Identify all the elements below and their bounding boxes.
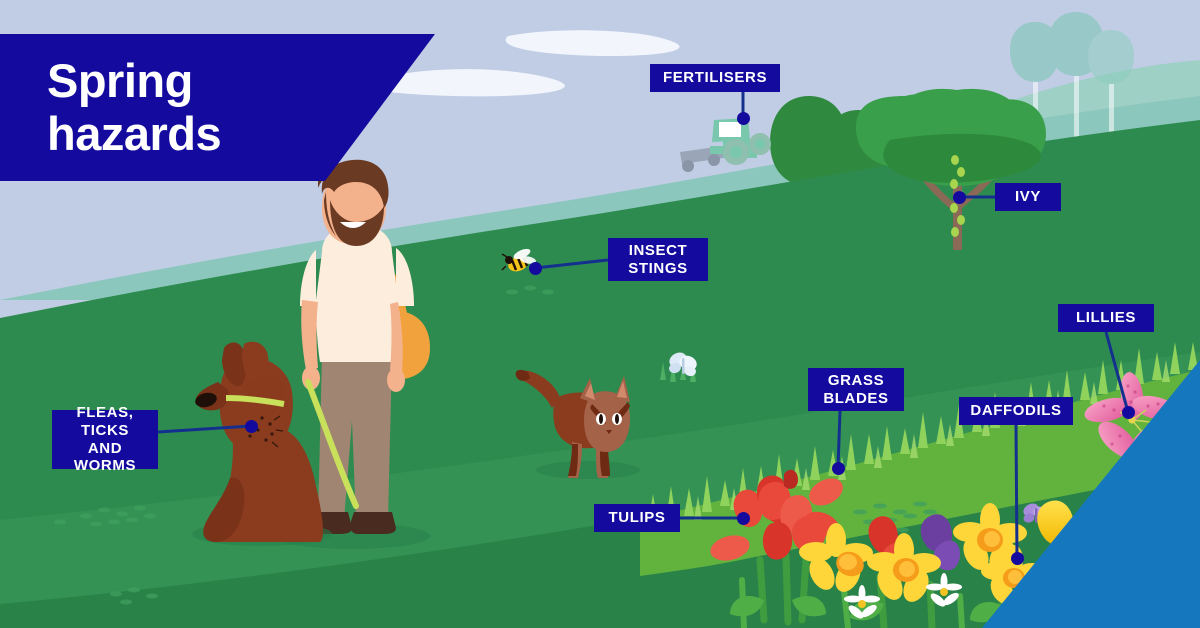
connector-insect-stings: [535, 260, 608, 268]
label-fertilisers[interactable]: FERTILISERS: [650, 64, 780, 92]
hotspot-ivy[interactable]: [953, 191, 966, 204]
connector-grass-blades: [838, 411, 840, 468]
label-lillies[interactable]: LILLIES: [1058, 304, 1154, 332]
label-daffodils[interactable]: DAFFODILS: [959, 397, 1073, 425]
infographic-canvas: Spring hazards FERTILISERS IVY INSECT ST…: [0, 0, 1200, 628]
hotspot-tulips[interactable]: [737, 512, 750, 525]
label-grass-blades[interactable]: GRASS BLADES: [808, 368, 904, 411]
label-insect-stings[interactable]: INSECT STINGS: [608, 238, 708, 281]
label-fleas-ticks-worms[interactable]: FLEAS, TICKS AND WORMS: [52, 410, 158, 469]
connector-lillies: [1106, 332, 1128, 412]
hotspot-fertilisers[interactable]: [737, 112, 750, 125]
hotspot-fleas-ticks-worms[interactable]: [245, 420, 258, 433]
hotspot-daffodils[interactable]: [1011, 552, 1024, 565]
label-ivy[interactable]: IVY: [995, 183, 1061, 211]
connector-fleas: [158, 426, 251, 432]
hotspot-grass-blades[interactable]: [832, 462, 845, 475]
hotspot-lillies[interactable]: [1122, 406, 1135, 419]
label-tulips[interactable]: TULIPS: [594, 504, 680, 532]
connector-daffodils: [1016, 425, 1017, 558]
hotspot-insect-stings[interactable]: [529, 262, 542, 275]
page-title: Spring hazards: [47, 54, 221, 160]
